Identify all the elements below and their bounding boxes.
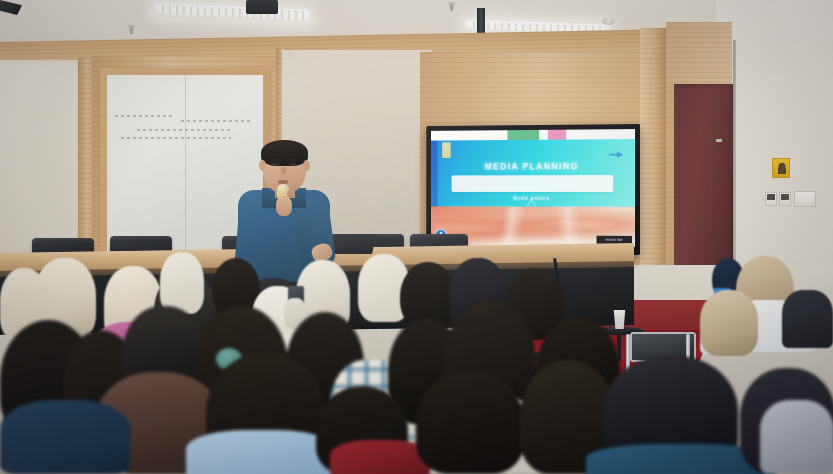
audience-head-hair	[416, 370, 524, 474]
projector-mount	[246, 0, 278, 14]
audience-shoulders	[0, 400, 130, 474]
speaker-hand-holding-mic	[276, 196, 292, 216]
whiteboard-marks	[121, 137, 231, 139]
whiteboard-seam	[185, 75, 186, 261]
safety-warning-sign	[772, 158, 790, 178]
slide-yellow-mark	[442, 142, 450, 158]
slide-topbar-pink-accent	[548, 130, 567, 140]
slide-canvas: MEDIA PLANNING Beda antara Media Plannin…	[431, 129, 635, 247]
door-header-panel	[666, 22, 732, 84]
audience-head-hijab	[160, 252, 204, 314]
door-handle[interactable]	[716, 139, 722, 142]
audience-shoulders	[330, 440, 430, 474]
speaker-ear	[259, 160, 266, 171]
audience-shoulders	[186, 430, 336, 474]
audience-shoulders	[782, 290, 833, 348]
whiteboard-marks	[181, 120, 253, 122]
laptop[interactable]	[328, 234, 376, 254]
wall-switch[interactable]	[781, 194, 789, 200]
wall-outlet-plate[interactable]	[794, 191, 816, 207]
slide-arrow-icon	[609, 151, 623, 158]
room-door[interactable]	[674, 84, 736, 284]
speaker-ear	[303, 160, 310, 171]
photo-scene: MEDIA PLANNING Beda antara Media Plannin…	[0, 0, 833, 474]
whiteboard-marks	[115, 115, 173, 117]
audience-shoulders	[760, 400, 833, 474]
audience-head-hijab	[700, 290, 758, 356]
acoustic-panel-left	[0, 62, 80, 260]
whiteboard-marks	[137, 129, 232, 131]
speaker-eye	[290, 163, 296, 166]
wall-switch[interactable]	[767, 194, 775, 200]
speaker-hair	[261, 140, 308, 166]
smoke-detector-icon	[602, 18, 615, 25]
slide-headline-bar	[452, 175, 614, 192]
speaker-eyebrow	[271, 159, 279, 161]
speaker-eyebrow	[289, 159, 297, 161]
slide-title: MEDIA PLANNING	[431, 161, 635, 172]
slide-topbar-green-accent	[507, 130, 540, 140]
speaker-nose	[281, 167, 286, 174]
speaker-eye	[272, 163, 278, 166]
slide-body: MEDIA PLANNING Beda antara Media Plannin…	[431, 139, 635, 247]
